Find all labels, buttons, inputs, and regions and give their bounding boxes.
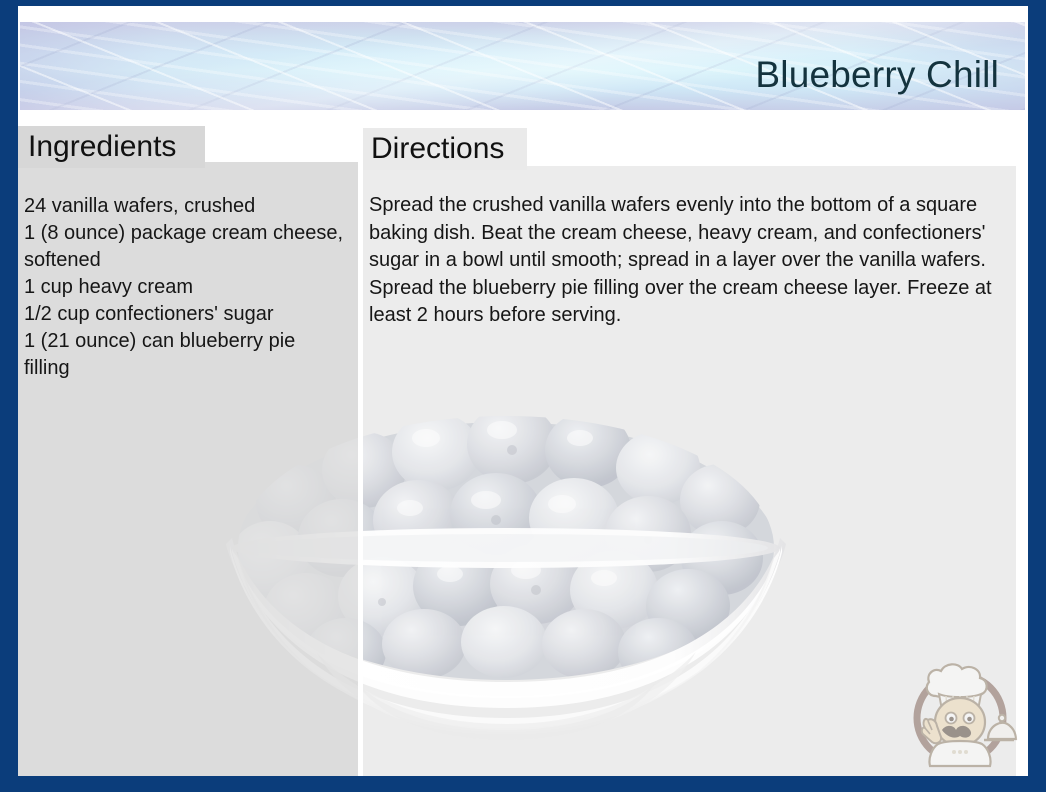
recipe-card: Blueberry Chill [0, 0, 1046, 792]
border-bottom [0, 776, 1046, 792]
section-header-ingredients: Ingredients [18, 126, 205, 168]
list-item: 1 cup heavy cream [24, 274, 344, 301]
header-banner: Blueberry Chill [20, 22, 1025, 110]
list-item: 1/2 cup confectioners' sugar [24, 301, 344, 328]
border-left [0, 0, 18, 792]
list-item: 1 (8 ounce) package cream cheese, soften… [24, 220, 344, 274]
list-item: 1 (21 ounce) can blueberry pie filling [24, 328, 344, 382]
page-title: Blueberry Chill [755, 54, 999, 96]
border-right [1028, 0, 1046, 792]
ingredients-list: 24 vanilla wafers, crushed 1 (8 ounce) p… [24, 193, 344, 382]
border-top [0, 0, 1046, 6]
section-header-directions: Directions [363, 128, 527, 170]
directions-body-text: Spread the crushed vanilla wafers evenly… [369, 192, 1007, 330]
list-item: 24 vanilla wafers, crushed [24, 193, 344, 220]
